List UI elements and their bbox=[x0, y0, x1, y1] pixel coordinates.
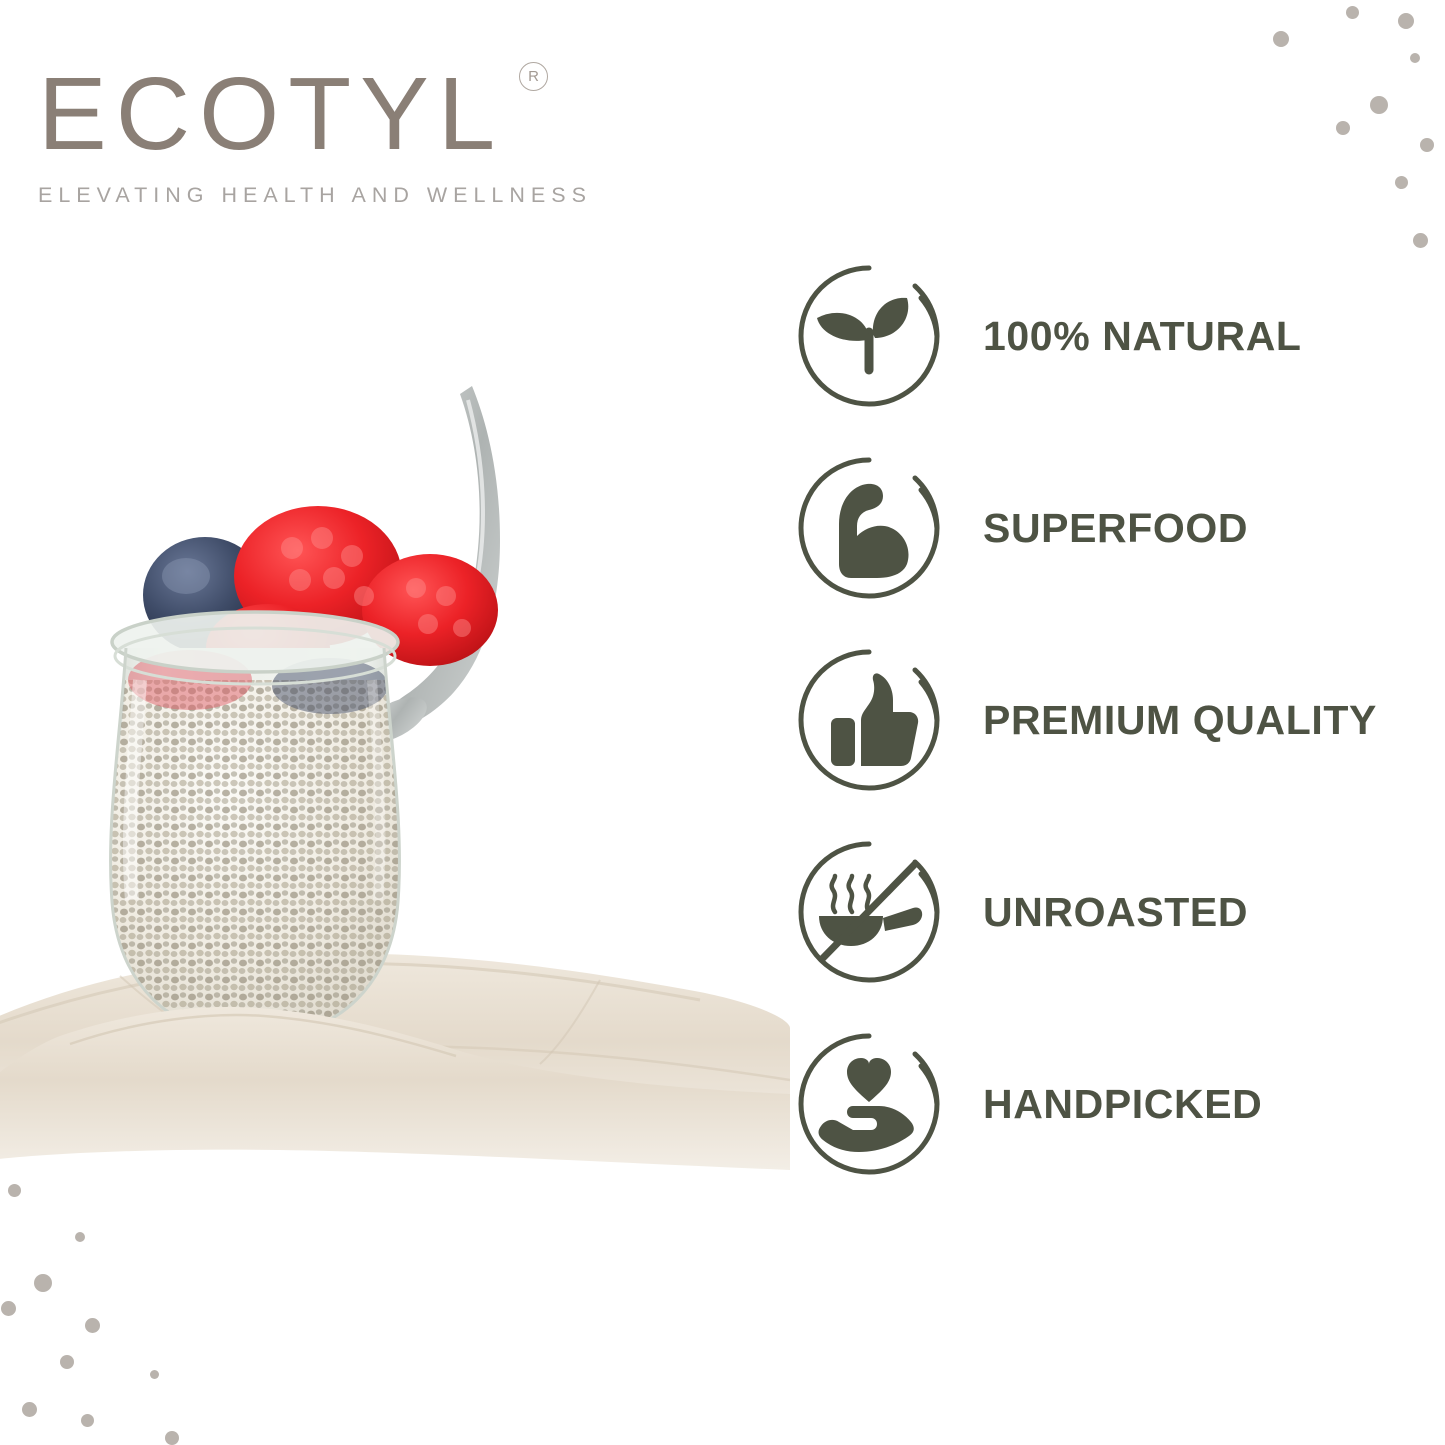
decorative-dot bbox=[165, 1431, 179, 1445]
decorative-dot bbox=[150, 1370, 159, 1379]
decorative-dot bbox=[1420, 138, 1434, 152]
decorative-dot bbox=[1410, 53, 1420, 63]
decorative-dot bbox=[1, 1301, 16, 1316]
badge-label-unroasted: UNROASTED bbox=[983, 838, 1248, 986]
badge-label-natural: 100% NATURAL bbox=[983, 262, 1302, 410]
decorative-dot bbox=[1395, 176, 1408, 189]
decorative-dot bbox=[1273, 31, 1289, 47]
decorative-dot bbox=[85, 1318, 100, 1333]
decorative-dot bbox=[60, 1355, 74, 1369]
decorative-dot bbox=[75, 1232, 85, 1242]
product-photo-illustration bbox=[0, 380, 790, 1190]
product-photo bbox=[0, 380, 790, 1190]
decorative-dot bbox=[1346, 6, 1359, 19]
brand-logo: ECOTYL R ELEVATING HEALTH AND WELLNESS bbox=[38, 62, 558, 208]
badge-label-premium: PREMIUM QUALITY bbox=[983, 646, 1377, 794]
badge-row-superfood: SUPERFOOD bbox=[795, 454, 1415, 646]
brand-wordmark: ECOTYL bbox=[38, 62, 558, 165]
decorative-dot bbox=[22, 1402, 37, 1417]
badge-row-handpicked: HANDPICKED bbox=[795, 1030, 1415, 1222]
decorative-dot bbox=[1370, 96, 1388, 114]
badge-label-handpicked: HANDPICKED bbox=[983, 1030, 1262, 1178]
decorative-dot bbox=[1413, 233, 1428, 248]
badge-label-superfood: SUPERFOOD bbox=[983, 454, 1248, 602]
glass-jar bbox=[100, 612, 420, 1040]
brand-tagline: ELEVATING HEALTH AND WELLNESS bbox=[38, 183, 558, 208]
feature-badge-list: 100% NATURAL SUPERFOOD PR bbox=[795, 262, 1415, 1222]
hand-holding-heart-icon bbox=[795, 1030, 943, 1178]
badge-row-premium: PREMIUM QUALITY bbox=[795, 646, 1415, 838]
decorative-dot bbox=[1336, 121, 1350, 135]
product-feature-banner: ECOTYL R ELEVATING HEALTH AND WELLNESS bbox=[0, 0, 1445, 1445]
decorative-dot bbox=[1398, 13, 1414, 29]
decorative-dot bbox=[81, 1414, 94, 1427]
flexed-bicep-icon bbox=[795, 454, 943, 602]
sprout-icon bbox=[795, 262, 943, 410]
thumbs-up-icon bbox=[795, 646, 943, 794]
no-frying-pan-icon bbox=[795, 838, 943, 986]
decorative-dot bbox=[34, 1274, 52, 1292]
badge-row-natural: 100% NATURAL bbox=[795, 262, 1415, 454]
badge-row-unroasted: UNROASTED bbox=[795, 838, 1415, 1030]
registered-trademark-icon: R bbox=[519, 62, 548, 91]
